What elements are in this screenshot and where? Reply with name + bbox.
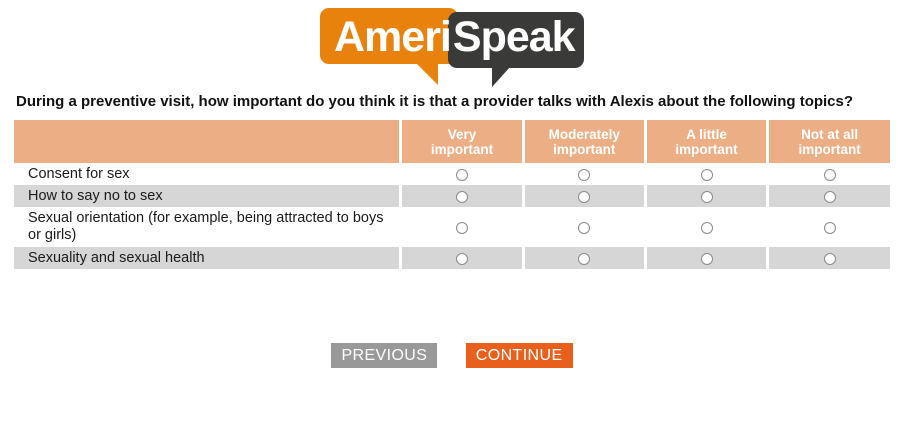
radio-cell[interactable] — [401, 163, 523, 185]
radio-cell[interactable] — [768, 185, 890, 207]
radio-button-sayno-very-important[interactable] — [456, 191, 468, 203]
radio-cell[interactable] — [645, 185, 767, 207]
radio-cell[interactable] — [523, 207, 645, 247]
header-cell-a-little-important: A little important — [645, 120, 767, 163]
table-header-row: Very important Moderately important A li… — [14, 120, 890, 163]
row-label-sexual-orientation: Sexual orientation (for example, being a… — [14, 207, 401, 247]
header-cell-moderately-important: Moderately important — [523, 120, 645, 163]
row-label-sexuality-sexual-health: Sexuality and sexual health — [14, 247, 401, 269]
radio-button-sexuality-a-little-important[interactable] — [701, 253, 713, 265]
row-label-how-to-say-no: How to say no to sex — [14, 185, 401, 207]
radio-button-sexuality-very-important[interactable] — [456, 253, 468, 265]
radio-button-consent-moderately-important[interactable] — [578, 169, 590, 181]
header-line-1: Very — [448, 127, 477, 142]
radio-cell[interactable] — [401, 185, 523, 207]
radio-cell[interactable] — [401, 207, 523, 247]
logo-header: AmeriSpeak — [0, 0, 904, 92]
header-line-1: Not at all — [801, 127, 858, 142]
radio-cell[interactable] — [523, 247, 645, 269]
radio-button-sayno-not-at-all-important[interactable] — [824, 191, 836, 203]
radio-cell[interactable] — [645, 247, 767, 269]
logo-word-speak: Speak — [453, 13, 575, 61]
radio-cell[interactable] — [645, 207, 767, 247]
radio-button-sexuality-moderately-important[interactable] — [578, 253, 590, 265]
survey-matrix-table: Very important Moderately important A li… — [14, 120, 890, 269]
header-line-2: important — [675, 142, 737, 157]
header-line-1: A little — [686, 127, 727, 142]
logo-orange-bubble-tail-icon — [416, 63, 438, 85]
radio-cell[interactable] — [401, 247, 523, 269]
radio-cell[interactable] — [645, 163, 767, 185]
header-line-2: important — [431, 142, 493, 157]
table-row: Consent for sex — [14, 163, 890, 185]
continue-button[interactable]: CONTINUE — [466, 343, 573, 368]
radio-button-orientation-moderately-important[interactable] — [578, 222, 590, 234]
radio-cell[interactable] — [523, 185, 645, 207]
logo-dark-bubble-tail-icon — [492, 67, 510, 87]
radio-button-consent-a-little-important[interactable] — [701, 169, 713, 181]
header-line-1: Moderately — [549, 127, 620, 142]
radio-button-sayno-a-little-important[interactable] — [701, 191, 713, 203]
row-label-consent-for-sex: Consent for sex — [14, 163, 401, 185]
radio-button-orientation-very-important[interactable] — [456, 222, 468, 234]
radio-button-consent-not-at-all-important[interactable] — [824, 169, 836, 181]
question-text: During a preventive visit, how important… — [0, 92, 904, 120]
header-cell-very-important: Very important — [401, 120, 523, 163]
table-row: How to say no to sex — [14, 185, 890, 207]
amerispeak-logo: AmeriSpeak — [320, 8, 584, 86]
radio-cell[interactable] — [768, 207, 890, 247]
radio-button-sexuality-not-at-all-important[interactable] — [824, 253, 836, 265]
radio-button-orientation-a-little-important[interactable] — [701, 222, 713, 234]
radio-cell[interactable] — [768, 247, 890, 269]
header-line-2: important — [798, 142, 860, 157]
survey-grid-container: Very important Moderately important A li… — [0, 120, 904, 269]
table-row: Sexual orientation (for example, being a… — [14, 207, 890, 247]
logo-wordmark: AmeriSpeak — [320, 10, 584, 66]
header-cell-blank — [14, 120, 401, 163]
navigation-button-bar: PREVIOUS CONTINUE — [0, 269, 904, 368]
radio-button-orientation-not-at-all-important[interactable] — [824, 222, 836, 234]
previous-button[interactable]: PREVIOUS — [331, 343, 437, 368]
radio-button-consent-very-important[interactable] — [456, 169, 468, 181]
table-row: Sexuality and sexual health — [14, 247, 890, 269]
radio-cell[interactable] — [523, 163, 645, 185]
radio-cell[interactable] — [768, 163, 890, 185]
header-line-2: important — [553, 142, 615, 157]
logo-word-ameri: Ameri — [334, 13, 451, 61]
radio-button-sayno-moderately-important[interactable] — [578, 191, 590, 203]
header-cell-not-at-all-important: Not at all important — [768, 120, 890, 163]
